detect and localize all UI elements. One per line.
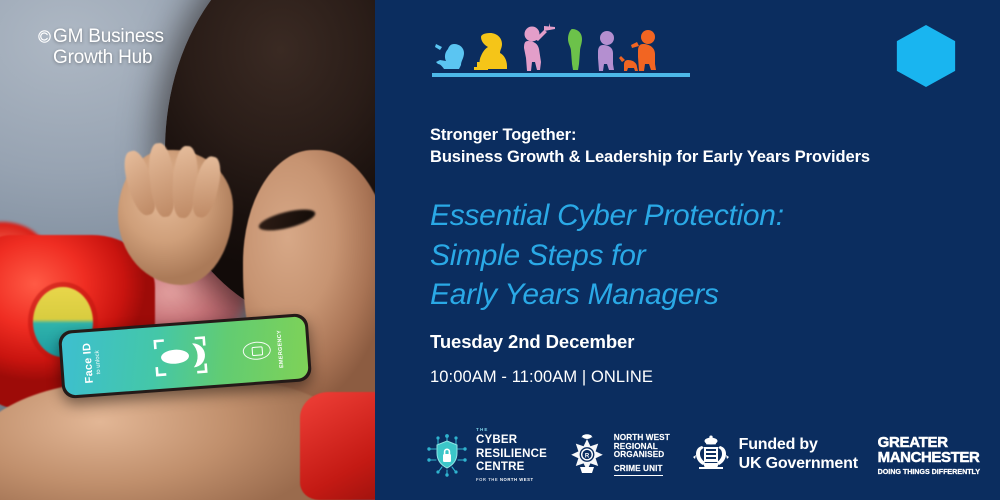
phone-emergency-label: EMERGENCY [276,330,285,368]
kicker-line-1: Stronger Together: [430,125,975,147]
event-date: Tuesday 2nd December [430,331,634,353]
logo-greater-manchester: GREATER MANCHESTER DOING THINGS DIFFEREN… [878,435,980,475]
gm-line3: DOING THINGS DIFFERENTLY [878,468,980,475]
partner-logo-strip: THE CYBER RESILIENCE CENTRE FOR THE NORT… [425,424,980,486]
gm-wordmark: GREATER MANCHESTER DOING THINGS DIFFEREN… [878,435,980,475]
headline-line-3: Early Years Managers [430,275,950,315]
figure-child-with-dog [619,30,656,71]
hero-photo: Face ID to unlock EMERGENCY [0,0,375,500]
photo-red-sleeve [300,392,375,500]
headline-line-1: Essential Cyber Protection: [430,196,950,236]
event-time-format: 10:00AM - 11:00AM | ONLINE [430,368,653,387]
camera-lock-icon [242,341,271,361]
crc-wordmark: THE CYBER RESILIENCE CENTRE FOR THE NORT… [476,428,547,482]
gm-logo-text: GM Business Growth Hub [53,26,164,69]
spiral-mark-icon [38,30,51,43]
nwrocu-line4: CRIME UNIT [614,465,663,475]
shield-padlock-icon [425,433,469,477]
logo-nwrocu: R NORTH WEST REGIONAL ORGANISED CRIME UN… [567,434,670,476]
headline-line-2: Simple Steps for [430,236,950,276]
crc-line3: CENTRE [476,461,547,475]
crc-line1: CYBER [476,434,547,448]
svg-text:R: R [585,453,590,459]
event-kicker: Stronger Together: Business Growth & Lea… [430,125,975,169]
gm-business-growth-hub-logo: GM Business Growth Hub [38,26,164,69]
event-headline: Essential Cyber Protection: Simple Steps… [430,196,950,315]
crc-tagline: FOR THE NORTH WEST [476,478,547,482]
content-panel: Stronger Together: Business Growth & Lea… [375,0,1000,500]
nwrocu-line3: ORGANISED [614,451,670,459]
figure-crawling-baby [435,44,464,69]
ukg-line1: Funded by [739,436,858,455]
logo-funded-by-uk-government: Funded by UK Government [690,434,858,476]
ukg-line2: UK Government [739,455,858,474]
logo-cyber-resilience-centre: THE CYBER RESILIENCE CENTRE FOR THE NORT… [425,428,547,482]
crc-the: THE [476,428,547,433]
figure-sitting-toddler [474,33,507,70]
gm-logo-line2: Growth Hub [53,47,164,68]
crc-tagline-region: NORTH WEST [500,477,534,482]
cyan-hexagon-decoration [895,25,957,87]
illustration-baseline [432,73,690,77]
police-star-badge-icon: R [567,434,607,476]
children-silhouettes-illustration [432,17,692,79]
nwrocu-wordmark: NORTH WEST REGIONAL ORGANISED CRIME UNIT [614,434,670,475]
event-banner: Face ID to unlock EMERGENCY [0,0,1000,500]
gm-line2: MANCHESTER [878,450,980,465]
gm-line1: GREATER [878,435,980,450]
face-scan-icon [150,332,219,381]
figure-standing-child [568,29,582,70]
phone-faceid-text: Face ID to unlock [82,342,103,384]
gm-logo-line1: GM Business [53,26,164,47]
crc-tagline-prefix: FOR THE [476,477,500,482]
crc-line2: RESILIENCE [476,448,547,462]
figure-walking-child [598,31,614,71]
figure-reaching-child [524,23,555,71]
ukg-wordmark: Funded by UK Government [739,436,858,473]
royal-crest-icon [690,434,732,476]
kicker-line-2: Business Growth & Leadership for Early Y… [430,147,975,169]
